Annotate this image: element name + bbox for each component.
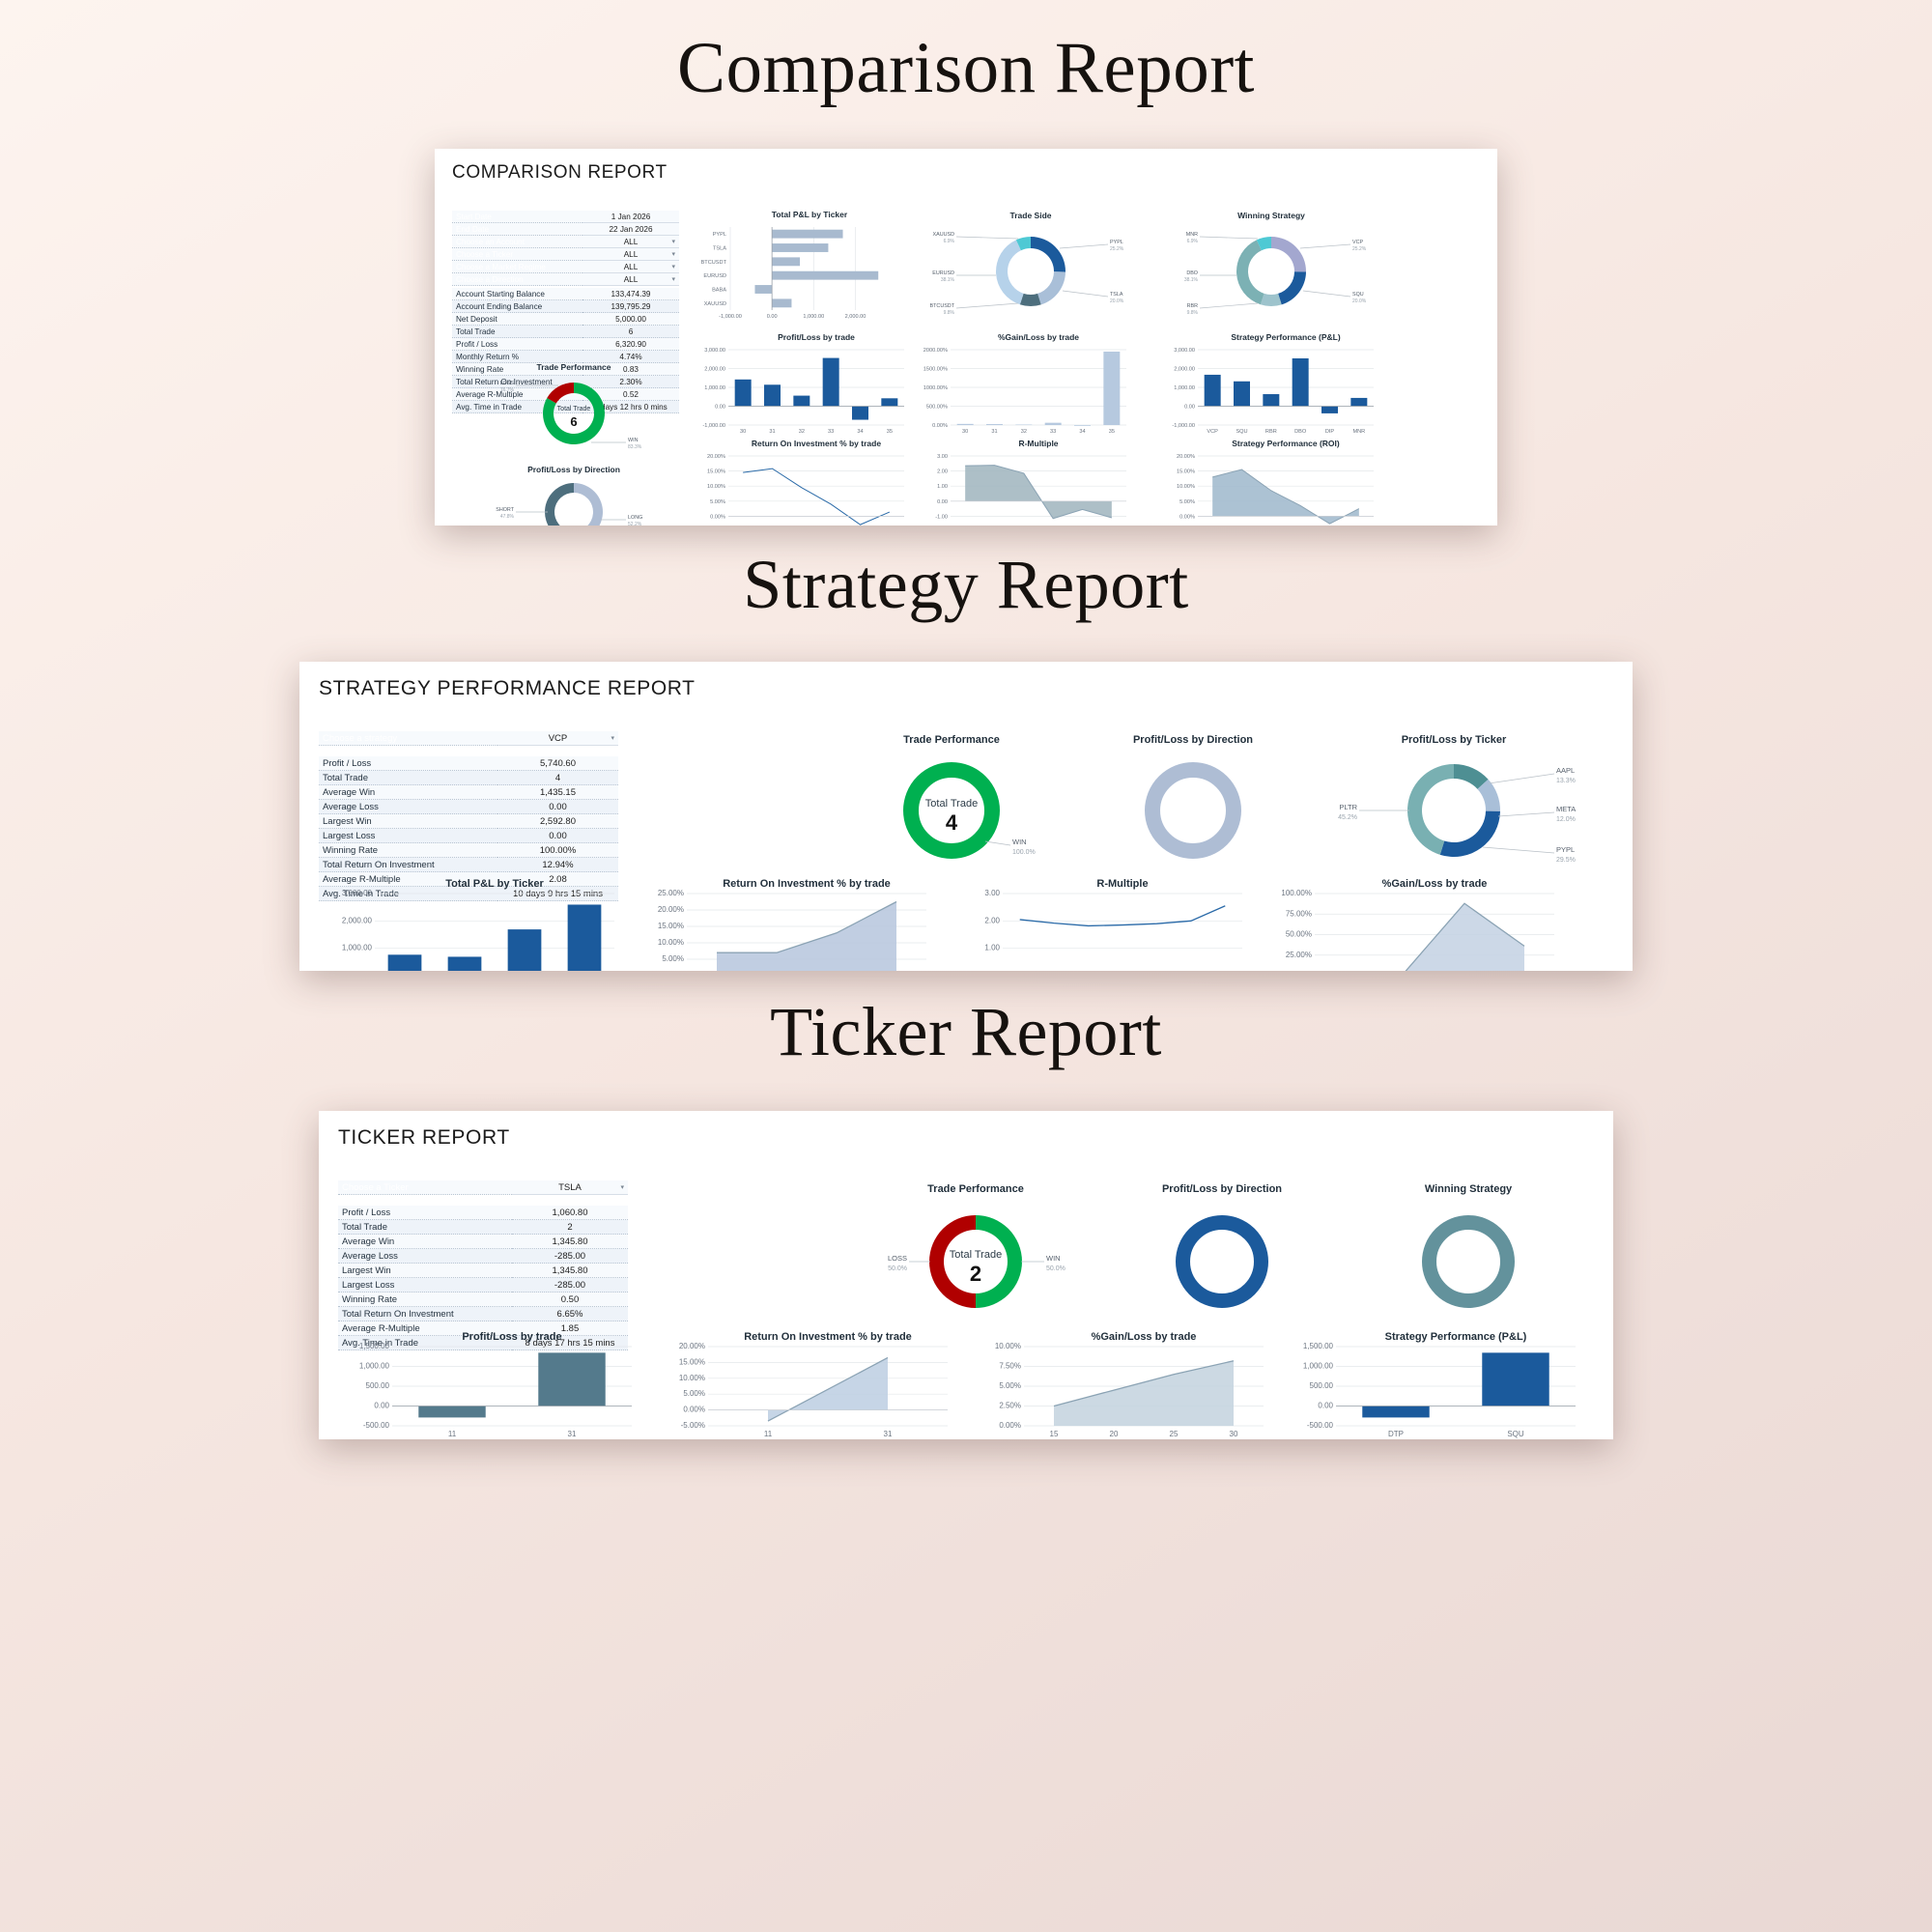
row-value: 12.94% <box>497 858 618 872</box>
donut-pct-META: 12.0% <box>1556 816 1576 823</box>
y-tick-label: 1,000.00 <box>1303 1362 1334 1371</box>
y-tick-label: 0.00 <box>1318 1402 1333 1410</box>
bar-35 <box>881 398 897 406</box>
chart-title: Profit/Loss by Direction <box>527 465 620 474</box>
chart-title: Trade Performance <box>536 362 611 372</box>
leader-line <box>1483 847 1554 853</box>
row-value[interactable]: VCP▾ <box>497 731 618 746</box>
donut-profit-loss-by-ticker: Profit/Loss by TickerAAPL13.3%META12.0%P… <box>1319 727 1608 872</box>
metric-row: Account Starting Balance133,474.39 <box>452 288 679 300</box>
x-tick-label: 35 <box>1109 429 1115 435</box>
chart-title: R-Multiple <box>1018 439 1058 448</box>
row-value: -285.00 <box>512 1278 628 1293</box>
donut-slice-LOSS <box>929 1215 976 1308</box>
donut-label-WIN: WIN <box>1046 1254 1061 1263</box>
y-tick-label: -1,000.00 <box>702 423 725 429</box>
row-label: Account Starting Balance <box>452 288 582 300</box>
donut-profit-loss-by-direction: Profit/Loss by Direction <box>1082 727 1304 872</box>
row-value[interactable]: ALL▾ <box>582 273 679 286</box>
heading-comparison-report: Comparison Report <box>0 0 1932 110</box>
donut-trade-performance: Trade PerformanceTotal Trade4WIN100.0% <box>840 727 1063 872</box>
y-tick-label: 1500.00% <box>923 367 948 373</box>
filter-row[interactable]: Choose a TickerTSLA▾ <box>338 1180 628 1195</box>
row-label: Largest Loss <box>338 1278 512 1293</box>
bar-32 <box>793 396 810 407</box>
chevron-down-icon[interactable]: ▾ <box>671 250 675 258</box>
leader-line <box>956 303 1018 308</box>
donut-label-LONG: LONG <box>628 515 642 521</box>
chart-title: Strategy Performance (ROI) <box>1232 439 1340 448</box>
strategy-sheet-title: STRATEGY PERFORMANCE REPORT <box>299 662 1633 700</box>
donut-label-DBO: DBO <box>1186 270 1198 276</box>
row-label: Average Win <box>319 785 497 800</box>
donut-label-SQU: SQU <box>1352 292 1364 298</box>
bar-AAPL <box>388 954 422 971</box>
x-tick-label: 31 <box>568 1430 577 1438</box>
row-value: 0.00 <box>497 800 618 814</box>
metric-row: Winning Rate0.50 <box>338 1293 628 1307</box>
y-tick-label: 5.00% <box>1179 499 1195 505</box>
y-tick-label: 2.50% <box>999 1402 1021 1410</box>
donut-slice-PYPL <box>1031 237 1065 271</box>
donut-pct-LONG: 52.2% <box>628 522 642 526</box>
chart-title: Total P&L by Ticker <box>772 210 848 219</box>
row-label: Average Loss <box>319 800 497 814</box>
bar-SQU <box>1482 1352 1548 1406</box>
y-tick-label: 1000.00% <box>923 385 948 391</box>
row-value: 0.50 <box>512 1293 628 1307</box>
donut-label-PYPL: PYPL <box>1110 240 1123 245</box>
filter-row[interactable]: Start Date1 Jan 2026 <box>452 211 679 223</box>
donut-winning-strategy: Winning Strategy <box>1357 1177 1579 1321</box>
donut-pct-BTCUSDT: 9.8% <box>944 310 955 316</box>
x-tick-label: SQU <box>1507 1430 1524 1438</box>
row-value[interactable]: ALL▾ <box>582 261 679 273</box>
data-line <box>1020 906 1226 926</box>
donut-label-RBR: RBR <box>1187 303 1198 309</box>
y-tick-label: 25.00% <box>1286 951 1312 959</box>
chart-title: %Gain/Loss by trade <box>1092 1331 1197 1343</box>
chart-title: Trade Performance <box>927 1183 1024 1195</box>
area-fill <box>965 466 1112 519</box>
row-label: Winning Rate <box>338 1293 512 1307</box>
y-tick-label: 3,000.00 <box>1174 348 1195 354</box>
donut-pct-SHORT: 47.8% <box>500 514 515 520</box>
donut-trade-performance: Trade PerformanceTotal Trade6LOSS16.7%WI… <box>456 359 678 456</box>
donut-profit-loss-by-direction: Profit/Loss by DirectionSHORT47.8%LONG52… <box>456 462 678 526</box>
leader-line <box>956 237 1018 239</box>
x-tick-label: 31 <box>769 429 775 435</box>
heading-ticker-report: Ticker Report <box>0 971 1932 1072</box>
bar-SQU <box>1234 382 1250 407</box>
chart-title: Trade Performance <box>903 734 1000 746</box>
chart-total-p-l-by-ticker: Total P&L by Ticker-1,000.000.001,000.00… <box>688 208 900 324</box>
x-tick-label: 20 <box>1110 1430 1119 1438</box>
chart-title: Trade Side <box>1010 211 1052 220</box>
x-tick-label: 32 <box>1021 429 1027 435</box>
report-page: Comparison Report COMPARISON REPORT Star… <box>0 0 1932 1932</box>
donut-slice-SQU <box>1430 1223 1508 1301</box>
y-tick-label: XAUUSD <box>704 301 726 307</box>
y-tick-label: 1,500.00 <box>1303 1342 1334 1350</box>
metric-row: Account Ending Balance139,795.29 <box>452 300 679 313</box>
donut-center-label: Total Trade <box>557 406 591 412</box>
donut-label-LOSS: LOSS <box>888 1254 907 1263</box>
metric-row: Average Win1,435.15 <box>319 785 618 800</box>
strategy-selector: Choose a strategyVCP▾ <box>319 731 618 746</box>
row-label: Largest Win <box>319 814 497 829</box>
donut-trade-performance: Trade PerformanceTotal Trade2LOSS50.0%WI… <box>865 1177 1087 1321</box>
y-tick-label: 15.00% <box>679 1357 705 1366</box>
x-tick-label: 34 <box>1079 429 1085 435</box>
area-fill <box>717 902 896 972</box>
strategy-report-sheet: STRATEGY PERFORMANCE REPORT Choose a str… <box>299 662 1633 971</box>
x-tick-label: 33 <box>828 429 834 435</box>
y-tick-label: 2,000.00 <box>342 916 373 924</box>
filter-row[interactable]: Choose a DirectionALL▾ <box>452 273 679 286</box>
y-tick-label: 25.00% <box>658 889 684 897</box>
y-tick-label: -500.00 <box>363 1421 390 1430</box>
donut-pct-LOSS: 16.7% <box>500 387 515 393</box>
donut-pct-WIN: 100.0% <box>1012 849 1036 856</box>
donut-pct-RBR: 9.8% <box>1187 310 1199 316</box>
y-tick-label: 5.00% <box>999 1381 1021 1390</box>
leader-line <box>1200 237 1258 239</box>
chart--gain-loss-by-trade: %Gain/Loss by trade2000.00%1500.00%1000.… <box>910 330 1134 439</box>
row-value: 2 <box>512 1220 628 1235</box>
donut-label-WIN: WIN <box>1012 838 1027 846</box>
row-value: 100.00% <box>497 843 618 858</box>
y-tick-label: 15.00% <box>707 469 725 475</box>
filter-row[interactable]: Choose a Market RegimeALL▾ <box>452 261 679 273</box>
y-tick-label: 2000.00% <box>923 348 948 354</box>
row-value: 2,592.80 <box>497 814 618 829</box>
metric-row: Average Win1,345.80 <box>338 1235 628 1249</box>
chart-return-on-investment-by-trade: Return On Investment % by trade20.00%15.… <box>652 1325 961 1439</box>
donut-pct-LOSS: 50.0% <box>888 1265 907 1272</box>
row-value: 133,474.39 <box>582 288 679 300</box>
y-tick-label: -1.00 <box>935 514 948 520</box>
chart--gain-loss-by-trade: %Gain/Loss by trade10.00%7.50%5.00%2.50%… <box>968 1325 1277 1439</box>
ticker-selector: Choose a TickerTSLA▾ <box>338 1180 628 1195</box>
chart-title: Profit/Loss by trade <box>778 332 855 342</box>
chart-strategy-performance-p-l-: Strategy Performance (P&L)3,000.002,000.… <box>1157 330 1381 439</box>
leader-line <box>1489 774 1554 783</box>
donut-slice-SHORT <box>545 483 574 526</box>
x-tick-label: 35 <box>887 429 893 435</box>
y-tick-label: EURUSD <box>703 273 726 279</box>
y-tick-label: 7.50% <box>999 1362 1021 1371</box>
bar-11 <box>418 1406 485 1418</box>
y-tick-label: 500.00 <box>1310 1381 1334 1390</box>
donut-label-MNR: MNR <box>1186 232 1198 238</box>
y-tick-label: 5.00% <box>710 499 725 505</box>
donut-center-label: Total Trade <box>925 798 978 810</box>
bar-PLTR <box>568 904 602 971</box>
donut-label-TSLA: TSLA <box>1110 292 1123 298</box>
bar-34 <box>1074 425 1091 426</box>
chart-strategy-performance-roi-: Strategy Performance (ROI)20.00%15.00%10… <box>1157 437 1381 526</box>
bar-33 <box>823 358 839 407</box>
bar-RBR <box>1263 394 1279 406</box>
donut-pct-DBO: 38.1% <box>1184 277 1199 283</box>
metric-row: Winning Rate100.00% <box>319 843 618 858</box>
y-tick-label: 1,000.00 <box>342 944 373 952</box>
donut-slice-WIN <box>976 1215 1022 1308</box>
x-tick-label: 15 <box>1050 1430 1059 1438</box>
x-tick-label: 11 <box>448 1430 457 1438</box>
row-label: Total Return On Investment <box>319 858 497 872</box>
bar-BTCUSDT <box>772 257 800 266</box>
metric-row: Largest Win2,592.80 <box>319 814 618 829</box>
y-tick-label: 1.00 <box>937 484 948 490</box>
row-value: 4 <box>497 771 618 785</box>
chevron-down-icon[interactable]: ▾ <box>611 734 614 742</box>
metric-row: Average Loss0.00 <box>319 800 618 814</box>
bar-XAUUSD <box>772 298 791 307</box>
x-tick-label: 32 <box>799 429 805 435</box>
chart-title: Profit/Loss by Direction <box>1162 1183 1282 1195</box>
donut-label-BTCUSDT: BTCUSDT <box>930 303 955 309</box>
donut-slice-BTCUSDT <box>1020 294 1041 306</box>
metric-row: Largest Win1,345.80 <box>338 1264 628 1278</box>
y-tick-label: 0.00% <box>710 514 725 520</box>
chart-title: Profit/Loss by Direction <box>1133 734 1253 746</box>
heading-strategy-report: Strategy Report <box>0 526 1932 625</box>
row-label: Choose a Ticker <box>338 1180 512 1195</box>
y-tick-label: 5.00% <box>662 954 684 963</box>
donut-label-PLTR: PLTR <box>1339 803 1357 811</box>
metric-row: Largest Loss-285.00 <box>338 1278 628 1293</box>
donut-center-label: Total Trade <box>950 1249 1002 1261</box>
filter-row[interactable]: Choose a strategyVCP▾ <box>319 731 618 746</box>
y-tick-label: BABA <box>712 288 726 294</box>
donut-pct-AAPL: 13.3% <box>1556 778 1576 784</box>
row-value: 1 Jan 2026 <box>582 211 679 223</box>
row-value: 5,740.60 <box>497 756 618 771</box>
chevron-down-icon[interactable]: ▾ <box>620 1183 624 1191</box>
metric-row: Net Deposit5,000.00 <box>452 313 679 326</box>
row-value[interactable]: ALL▾ <box>582 248 679 261</box>
bar-DIP <box>1321 407 1338 413</box>
ticker-sheet-title: TICKER REPORT <box>319 1111 1613 1150</box>
metric-row: Profit / Loss5,740.60 <box>319 756 618 771</box>
row-label: Total Return On Investment <box>338 1307 512 1321</box>
y-tick-label: 10.00% <box>679 1374 705 1382</box>
y-tick-label: 0.00 <box>374 1402 389 1410</box>
chart-title: Return On Investment % by trade <box>752 439 881 448</box>
y-tick-label: 0.00% <box>932 423 948 429</box>
row-value: 139,795.29 <box>582 300 679 313</box>
y-tick-label: 0.00% <box>683 1406 705 1414</box>
metric-row: Average Loss-285.00 <box>338 1249 628 1264</box>
leader-line <box>1303 291 1350 297</box>
metric-row: Total Trade6 <box>452 326 679 338</box>
row-value: -285.00 <box>512 1249 628 1264</box>
donut-label-AAPL: AAPL <box>1556 766 1575 775</box>
chart-title: %Gain/Loss by trade <box>1382 878 1488 890</box>
leader-line <box>985 841 1010 845</box>
bar-PYPL <box>508 929 542 971</box>
chart-title: %Gain/Loss by trade <box>998 332 1079 342</box>
row-label: Choose a Market Regime <box>452 261 582 273</box>
row-label: Total Trade <box>452 326 582 338</box>
metric-row: Profit / Loss1,060.80 <box>338 1206 628 1220</box>
y-tick-label: 3,000.00 <box>704 348 725 354</box>
chevron-down-icon[interactable]: ▾ <box>671 238 675 245</box>
donut-pct-SQU: 20.0% <box>1352 298 1367 304</box>
donut-label-PYPL: PYPL <box>1556 845 1575 854</box>
donut-center-value: 4 <box>946 810 958 835</box>
chart-title: Winning Strategy <box>1237 211 1305 220</box>
chart-return-on-investment-by-trade: Return On Investment % by trade25.00%20.… <box>633 872 940 971</box>
bar-30 <box>957 424 974 425</box>
chart-strategy-performance-p-l-: Strategy Performance (P&L)1,500.001,000.… <box>1280 1325 1589 1439</box>
donut-slice-TSLA <box>1037 271 1065 304</box>
filter-row[interactable]: Choose a TickerALL▾ <box>452 248 679 261</box>
leader-line <box>1200 303 1258 308</box>
x-tick-label: 2,000.00 <box>845 314 867 320</box>
metric-row: Profit / Loss6,320.90 <box>452 338 679 351</box>
row-label: Choose a Direction <box>452 273 582 286</box>
row-label: Total Trade <box>338 1220 512 1235</box>
donut-pct-XAUUSD: 6.9% <box>944 239 955 244</box>
donut-label-VCP: VCP <box>1352 240 1363 245</box>
row-label: Average Win <box>338 1235 512 1249</box>
y-tick-label: 0.00% <box>999 1421 1021 1430</box>
y-tick-label: 20.00% <box>658 905 684 914</box>
donut-pct-WIN: 83.3% <box>628 444 642 450</box>
bar-34 <box>852 407 868 420</box>
leader-line <box>1498 812 1554 816</box>
bar-MNR <box>1350 398 1367 407</box>
ticker-report-sheet: TICKER REPORT Choose a TickerTSLA▾Profit… <box>319 1111 1613 1439</box>
x-tick-label: 30 <box>1230 1430 1238 1438</box>
donut-pct-PYPL: 25.2% <box>1110 246 1124 252</box>
row-label: Profit / Loss <box>319 756 497 771</box>
y-tick-label: 2,000.00 <box>704 367 725 373</box>
y-tick-label: TSLA <box>713 246 726 252</box>
bar-32 <box>1015 425 1032 426</box>
y-tick-label: 2,000.00 <box>1174 367 1195 373</box>
chart-title: Return On Investment % by trade <box>744 1331 912 1343</box>
row-value: 1,345.80 <box>512 1235 628 1249</box>
x-tick-label: 1,000.00 <box>803 314 824 320</box>
x-tick-label: DIP <box>1325 429 1335 435</box>
y-tick-label: BTCUSDT <box>701 260 727 266</box>
x-tick-label: 33 <box>1050 429 1056 435</box>
bar-EURUSD <box>772 271 878 280</box>
filter-row[interactable]: Choose an AccountALL▾ <box>452 236 679 248</box>
y-tick-label: 100.00% <box>1281 889 1312 897</box>
donut-pct-PYPL: 29.5% <box>1556 857 1576 864</box>
y-tick-label: 15.00% <box>1177 469 1195 475</box>
donut-slice-PYPL <box>1440 811 1500 857</box>
leader-line <box>1063 291 1108 297</box>
y-tick-label: 10.00% <box>995 1342 1021 1350</box>
donut-slice-RBR <box>1261 294 1282 306</box>
donut-slice-EURUSD <box>996 240 1024 304</box>
chevron-down-icon[interactable]: ▾ <box>671 263 675 270</box>
bar-30 <box>735 380 752 407</box>
chart-r-multiple: R-Multiple3.002.001.000.00-1.00-2.003031… <box>910 437 1134 526</box>
row-label: Choose a Ticker <box>452 248 582 261</box>
y-tick-label: -500.00 <box>1307 1421 1334 1430</box>
row-value: 6,320.90 <box>582 338 679 351</box>
row-label: Average Loss <box>338 1249 512 1264</box>
chevron-down-icon[interactable]: ▾ <box>671 275 675 283</box>
x-tick-label: 11 <box>764 1430 773 1438</box>
chart-return-on-investment-by-trade: Return On Investment % by trade20.00%15.… <box>688 437 912 526</box>
y-tick-label: 0.00 <box>1184 405 1195 411</box>
y-tick-label: 20.00% <box>1177 454 1195 460</box>
x-tick-label: VCP <box>1207 429 1218 435</box>
area-fill <box>1054 1361 1234 1426</box>
metric-row: Total Trade4 <box>319 771 618 785</box>
donut-slice-LONG <box>1183 1223 1262 1301</box>
x-tick-label: MNR <box>1352 429 1365 435</box>
row-value[interactable]: ALL▾ <box>582 236 679 248</box>
y-tick-label: -1,000.00 <box>1172 423 1195 429</box>
y-tick-label: 500.00% <box>926 405 948 411</box>
chart-title: Profit/Loss by Ticker <box>1402 734 1507 746</box>
chart-title: R-Multiple <box>1096 878 1148 890</box>
bar-33 <box>1045 423 1062 425</box>
comparison-sheet-title: COMPARISON REPORT <box>435 149 1497 184</box>
row-label: End Date <box>452 223 582 236</box>
donut-label-SHORT: SHORT <box>496 507 514 513</box>
bar-PYPL <box>772 230 842 239</box>
row-label: Profit / Loss <box>452 338 582 351</box>
row-label: Account Ending Balance <box>452 300 582 313</box>
row-label: Total Trade <box>319 771 497 785</box>
y-tick-label: 2.00 <box>937 469 948 475</box>
x-tick-label: 30 <box>740 429 746 435</box>
filter-row[interactable]: End Date22 Jan 2026 <box>452 223 679 236</box>
y-tick-label: 10.00% <box>707 484 725 490</box>
donut-slice-VCP <box>1271 237 1306 271</box>
y-tick-label: 500.00 <box>366 1381 390 1390</box>
y-tick-label: 10.00% <box>1177 484 1195 490</box>
y-tick-label: PYPL <box>713 232 726 238</box>
donut-label-WIN: WIN <box>628 438 639 443</box>
donut-pct-PLTR: 45.2% <box>1338 814 1357 821</box>
donut-slice-DBO <box>1236 240 1264 304</box>
y-tick-label: 10.00% <box>658 938 684 947</box>
leader-line <box>1060 244 1108 248</box>
donut-slice-SQU <box>1278 271 1306 304</box>
chart-title: Total P&L by Ticker <box>445 878 544 890</box>
chart--gain-loss-by-trade: %Gain/Loss by trade100.00%75.00%50.00%25… <box>1261 872 1568 971</box>
donut-label-META: META <box>1556 805 1576 813</box>
bar-DBO <box>1293 358 1309 407</box>
x-tick-label: RBR <box>1265 429 1277 435</box>
y-tick-label: 1,000.00 <box>704 385 725 391</box>
x-tick-label: DTP <box>1388 1430 1404 1438</box>
row-value: 1,060.80 <box>512 1206 628 1220</box>
y-tick-label: 1,000.00 <box>1174 385 1195 391</box>
donut-slice-PLTR <box>1407 764 1454 855</box>
row-value[interactable]: TSLA▾ <box>512 1180 628 1195</box>
metric-row: Largest Loss0.00 <box>319 829 618 843</box>
donut-label-EURUSD: EURUSD <box>932 270 954 276</box>
y-tick-label: 0.00 <box>715 405 725 411</box>
x-tick-label: SQU <box>1236 429 1247 435</box>
row-value: 0.00 <box>497 829 618 843</box>
chart-profit-loss-by-trade: Profit/Loss by trade1,500.001,000.00500.… <box>336 1325 645 1439</box>
donut-slice-LONG <box>570 483 603 526</box>
chart-title: Winning Strategy <box>1425 1183 1513 1195</box>
